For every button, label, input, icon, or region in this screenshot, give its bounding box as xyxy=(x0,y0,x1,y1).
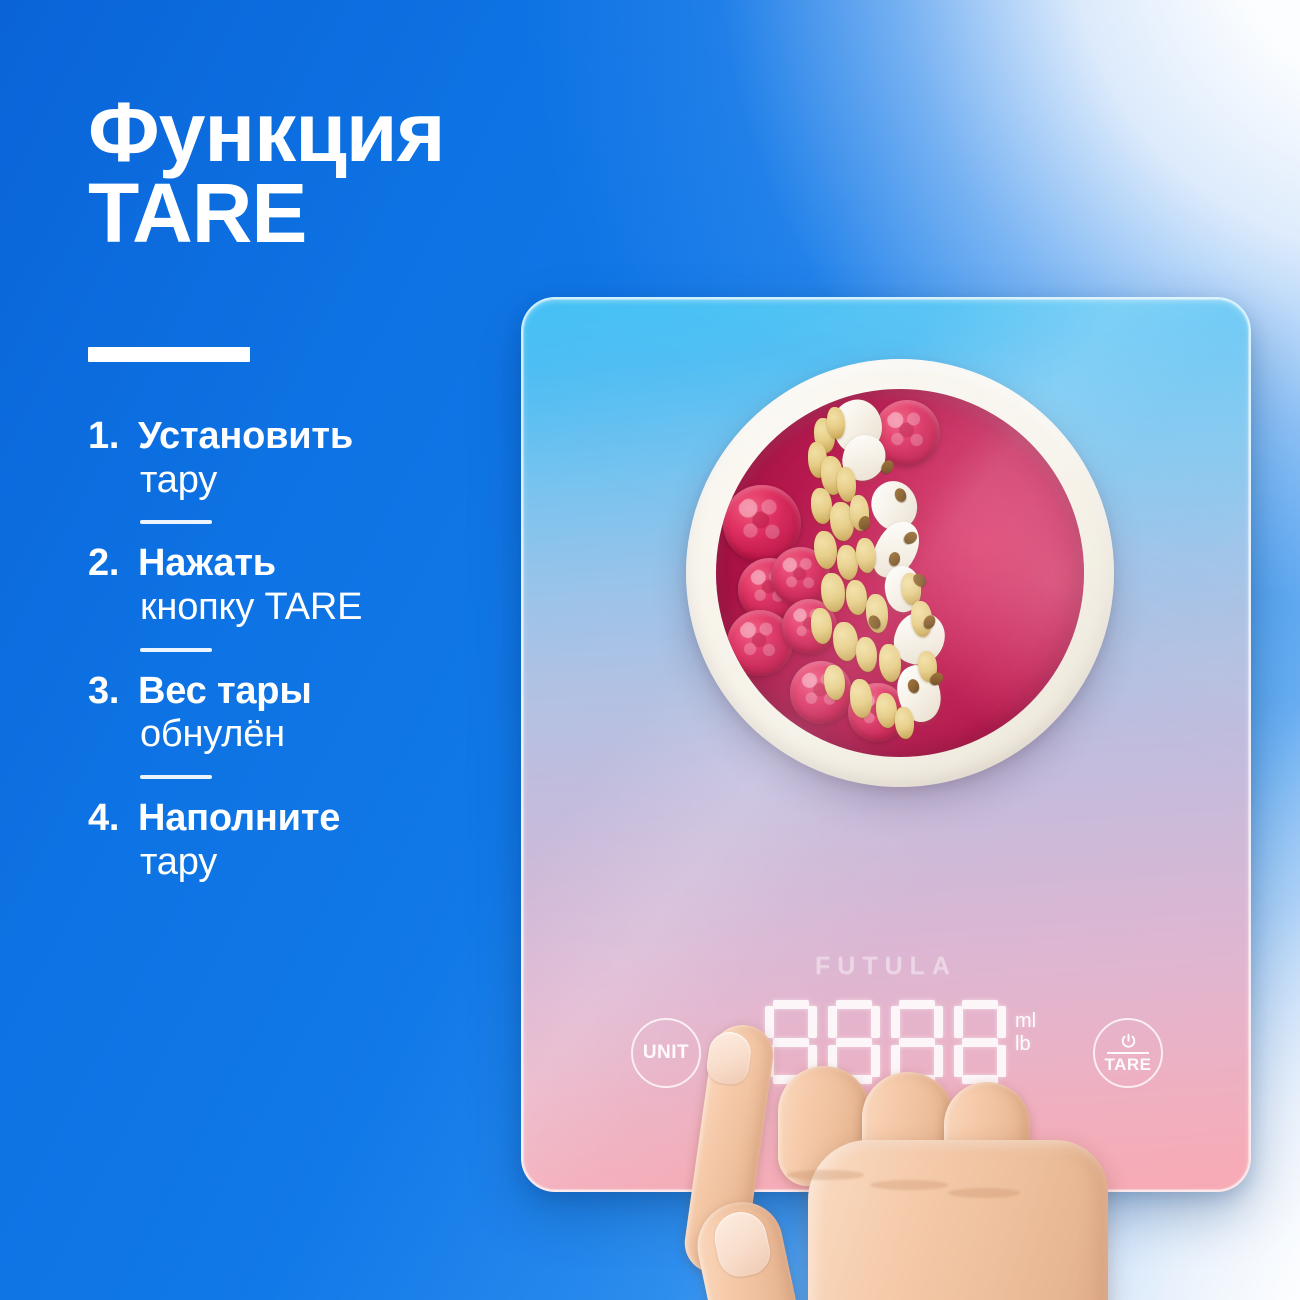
step-subtitle: тару xyxy=(140,458,508,503)
granola-cluster xyxy=(814,418,835,453)
kitchen-scale: FUTULA UNIT xyxy=(521,297,1251,1192)
raspberry xyxy=(782,599,837,654)
flax-seed xyxy=(857,515,872,532)
smoothie-bowl xyxy=(686,359,1114,787)
flax-seed xyxy=(893,487,908,504)
raspberry xyxy=(790,661,853,724)
step-number: 2. xyxy=(88,542,138,585)
tare-divider xyxy=(1107,1052,1149,1054)
step-heading: 1.Установить xyxy=(88,415,508,458)
step-number: 3. xyxy=(88,670,138,713)
granola-cluster xyxy=(856,637,877,672)
step-heading: 3.Вес тары xyxy=(88,670,508,713)
raspberry xyxy=(771,547,830,606)
lcd-digit xyxy=(765,1000,817,1084)
flax-seed xyxy=(921,614,938,632)
step-divider xyxy=(140,520,212,524)
unit-button-label: UNIT xyxy=(643,1042,689,1064)
flax-seed xyxy=(927,670,945,688)
lcd-digit xyxy=(891,1000,943,1084)
granola-cluster xyxy=(837,545,858,580)
step-subtitle: обнулён xyxy=(140,712,508,757)
brand-logo: FUTULA xyxy=(521,952,1251,981)
step-heading: 2.Нажать xyxy=(88,542,508,585)
coconut-flake xyxy=(887,605,951,671)
lcd-unit-labels: ml lb xyxy=(1015,1010,1036,1056)
granola-cluster xyxy=(918,651,937,683)
step-title: Вес тары xyxy=(138,670,312,712)
granola-cluster xyxy=(850,495,869,530)
list-item: 2.Нажать кнопку TARE xyxy=(88,542,508,651)
lcd-digit xyxy=(954,1000,1006,1084)
step-divider xyxy=(140,648,212,652)
power-icon xyxy=(1120,1033,1137,1050)
step-number: 1. xyxy=(88,415,138,458)
page-title-line-1: Функция xyxy=(88,92,518,173)
thumb xyxy=(689,1195,804,1300)
flax-seed xyxy=(906,678,920,694)
poster-canvas: Функция TARE 1.Установить тару 2.Нажать … xyxy=(0,0,1300,1300)
granola-cluster xyxy=(837,467,856,502)
lcd-unit-lb: lb xyxy=(1015,1033,1036,1056)
info-column: Функция TARE 1.Установить тару 2.Нажать … xyxy=(0,0,530,1300)
granola-cluster xyxy=(830,502,854,541)
step-number: 4. xyxy=(88,797,138,840)
lcd-unit-ml: ml xyxy=(1015,1010,1036,1033)
granola-cluster xyxy=(901,573,920,605)
granola-cluster xyxy=(879,644,902,683)
step-title: Наполните xyxy=(138,797,340,839)
granola-cluster xyxy=(911,601,932,636)
list-item: 4.Наполните тару xyxy=(88,797,508,884)
step-divider xyxy=(140,775,212,779)
lcd-digit xyxy=(828,1000,880,1084)
control-panel: UNIT ml xyxy=(521,982,1251,1192)
granola-cluster xyxy=(846,580,867,615)
step-subtitle: кнопку TARE xyxy=(140,585,508,630)
granola-cluster xyxy=(811,488,832,523)
lcd-digits xyxy=(765,1000,1006,1084)
thumbnail xyxy=(710,1207,774,1280)
granola-cluster xyxy=(833,622,857,661)
step-title: Установить xyxy=(138,415,353,457)
unit-button[interactable]: UNIT xyxy=(631,1018,701,1088)
step-heading: 4.Наполните xyxy=(88,797,508,840)
raspberry xyxy=(874,400,940,466)
coconut-flake xyxy=(864,514,927,586)
flax-seed xyxy=(887,551,901,567)
title-divider xyxy=(88,347,250,362)
coconut-flake xyxy=(862,473,927,539)
list-item: 1.Установить тару xyxy=(88,415,508,524)
page-title-line-2: TARE xyxy=(88,173,518,254)
granola-cluster xyxy=(866,594,889,633)
page-title: Функция TARE xyxy=(88,92,518,255)
list-item: 3.Вес тары обнулён xyxy=(88,670,508,779)
granola-cluster xyxy=(856,538,875,573)
flax-seed xyxy=(866,613,883,631)
step-title: Нажать xyxy=(138,542,276,584)
tare-button[interactable]: TARE xyxy=(1093,1018,1163,1088)
granola-cluster xyxy=(808,442,827,477)
tare-button-label: TARE xyxy=(1104,1056,1151,1073)
flax-seed xyxy=(901,529,919,547)
steps-list: 1.Установить тару 2.Нажать кнопку TARE 3… xyxy=(88,415,508,889)
coconut-flake xyxy=(881,563,925,615)
raspberry xyxy=(848,683,907,742)
step-subtitle: тару xyxy=(140,840,508,885)
flax-seed xyxy=(911,571,929,589)
granola-cluster xyxy=(821,456,844,495)
smoothie-surface xyxy=(716,389,1084,757)
lcd-display: ml lb xyxy=(765,1000,1065,1100)
granola-cluster xyxy=(827,407,845,439)
